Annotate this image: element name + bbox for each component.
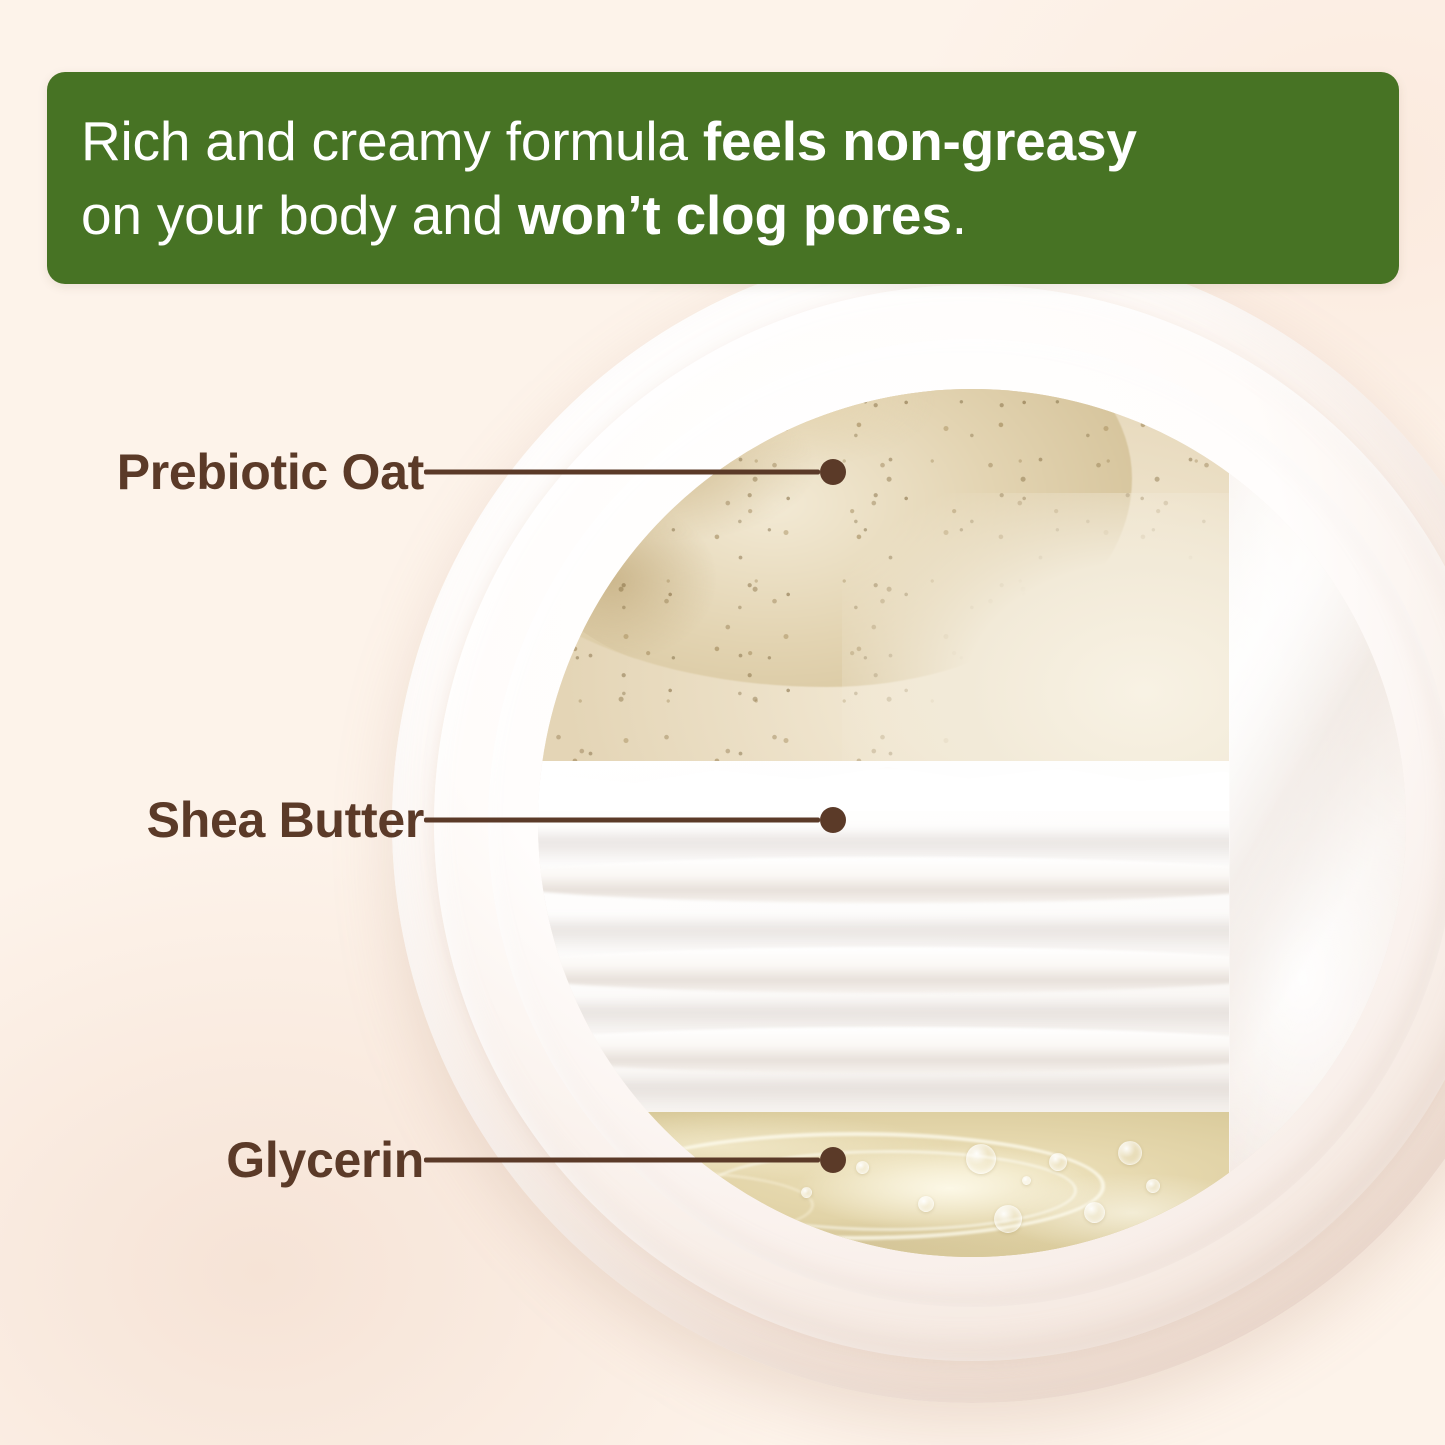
swatch-glycerin <box>538 1112 1229 1257</box>
shea-shadow-4 <box>538 1081 1229 1111</box>
callout-label-shea-butter: Shea Butter <box>147 791 424 849</box>
headline-line1-plain: Rich and creamy formula <box>81 110 703 172</box>
headline-line1-bold: feels non-greasy <box>703 110 1137 172</box>
headline-banner: Rich and creamy formula feels non-greasy… <box>47 72 1399 284</box>
oat-smooth-area <box>842 493 1229 761</box>
jar-opening <box>538 389 1406 1257</box>
glycerin-bubble <box>1146 1179 1160 1193</box>
callout-leader-line <box>424 818 820 823</box>
glycerin-bubble <box>994 1205 1022 1233</box>
callout-dot-marker <box>820 807 846 833</box>
shea-ridge-2 <box>538 947 1229 993</box>
headline-text: Rich and creamy formula feels non-greasy… <box>47 104 1171 252</box>
shea-ridge-1 <box>538 857 1229 903</box>
headline-line2-plain: on your body and <box>81 184 518 246</box>
swatch-seam <box>1229 389 1230 1257</box>
shea-ridge-3 <box>538 1027 1229 1073</box>
callout-label-glycerin: Glycerin <box>226 1131 424 1189</box>
headline-line2-tail: . <box>952 184 967 246</box>
swatch-shea-butter <box>538 761 1229 1112</box>
callout-dot-marker <box>820 459 846 485</box>
callout-label-prebiotic-oat: Prebiotic Oat <box>117 443 424 501</box>
marketing-image: Rich and creamy formula feels non-greasy… <box>0 0 1445 1445</box>
glycerin-bubble <box>1022 1176 1031 1185</box>
glycerin-bubble <box>801 1187 812 1198</box>
callout-leader-line <box>424 470 820 475</box>
glycerin-bubble <box>1049 1153 1067 1171</box>
headline-line2-bold: won’t clog pores <box>518 184 952 246</box>
ingredient-swatch-column <box>538 389 1229 1257</box>
swatch-prebiotic-oat <box>538 389 1229 761</box>
glycerin-bubble <box>1084 1202 1105 1223</box>
callout-leader-line <box>424 1158 820 1163</box>
product-jar <box>392 243 1445 1403</box>
callout-dot-marker <box>820 1147 846 1173</box>
